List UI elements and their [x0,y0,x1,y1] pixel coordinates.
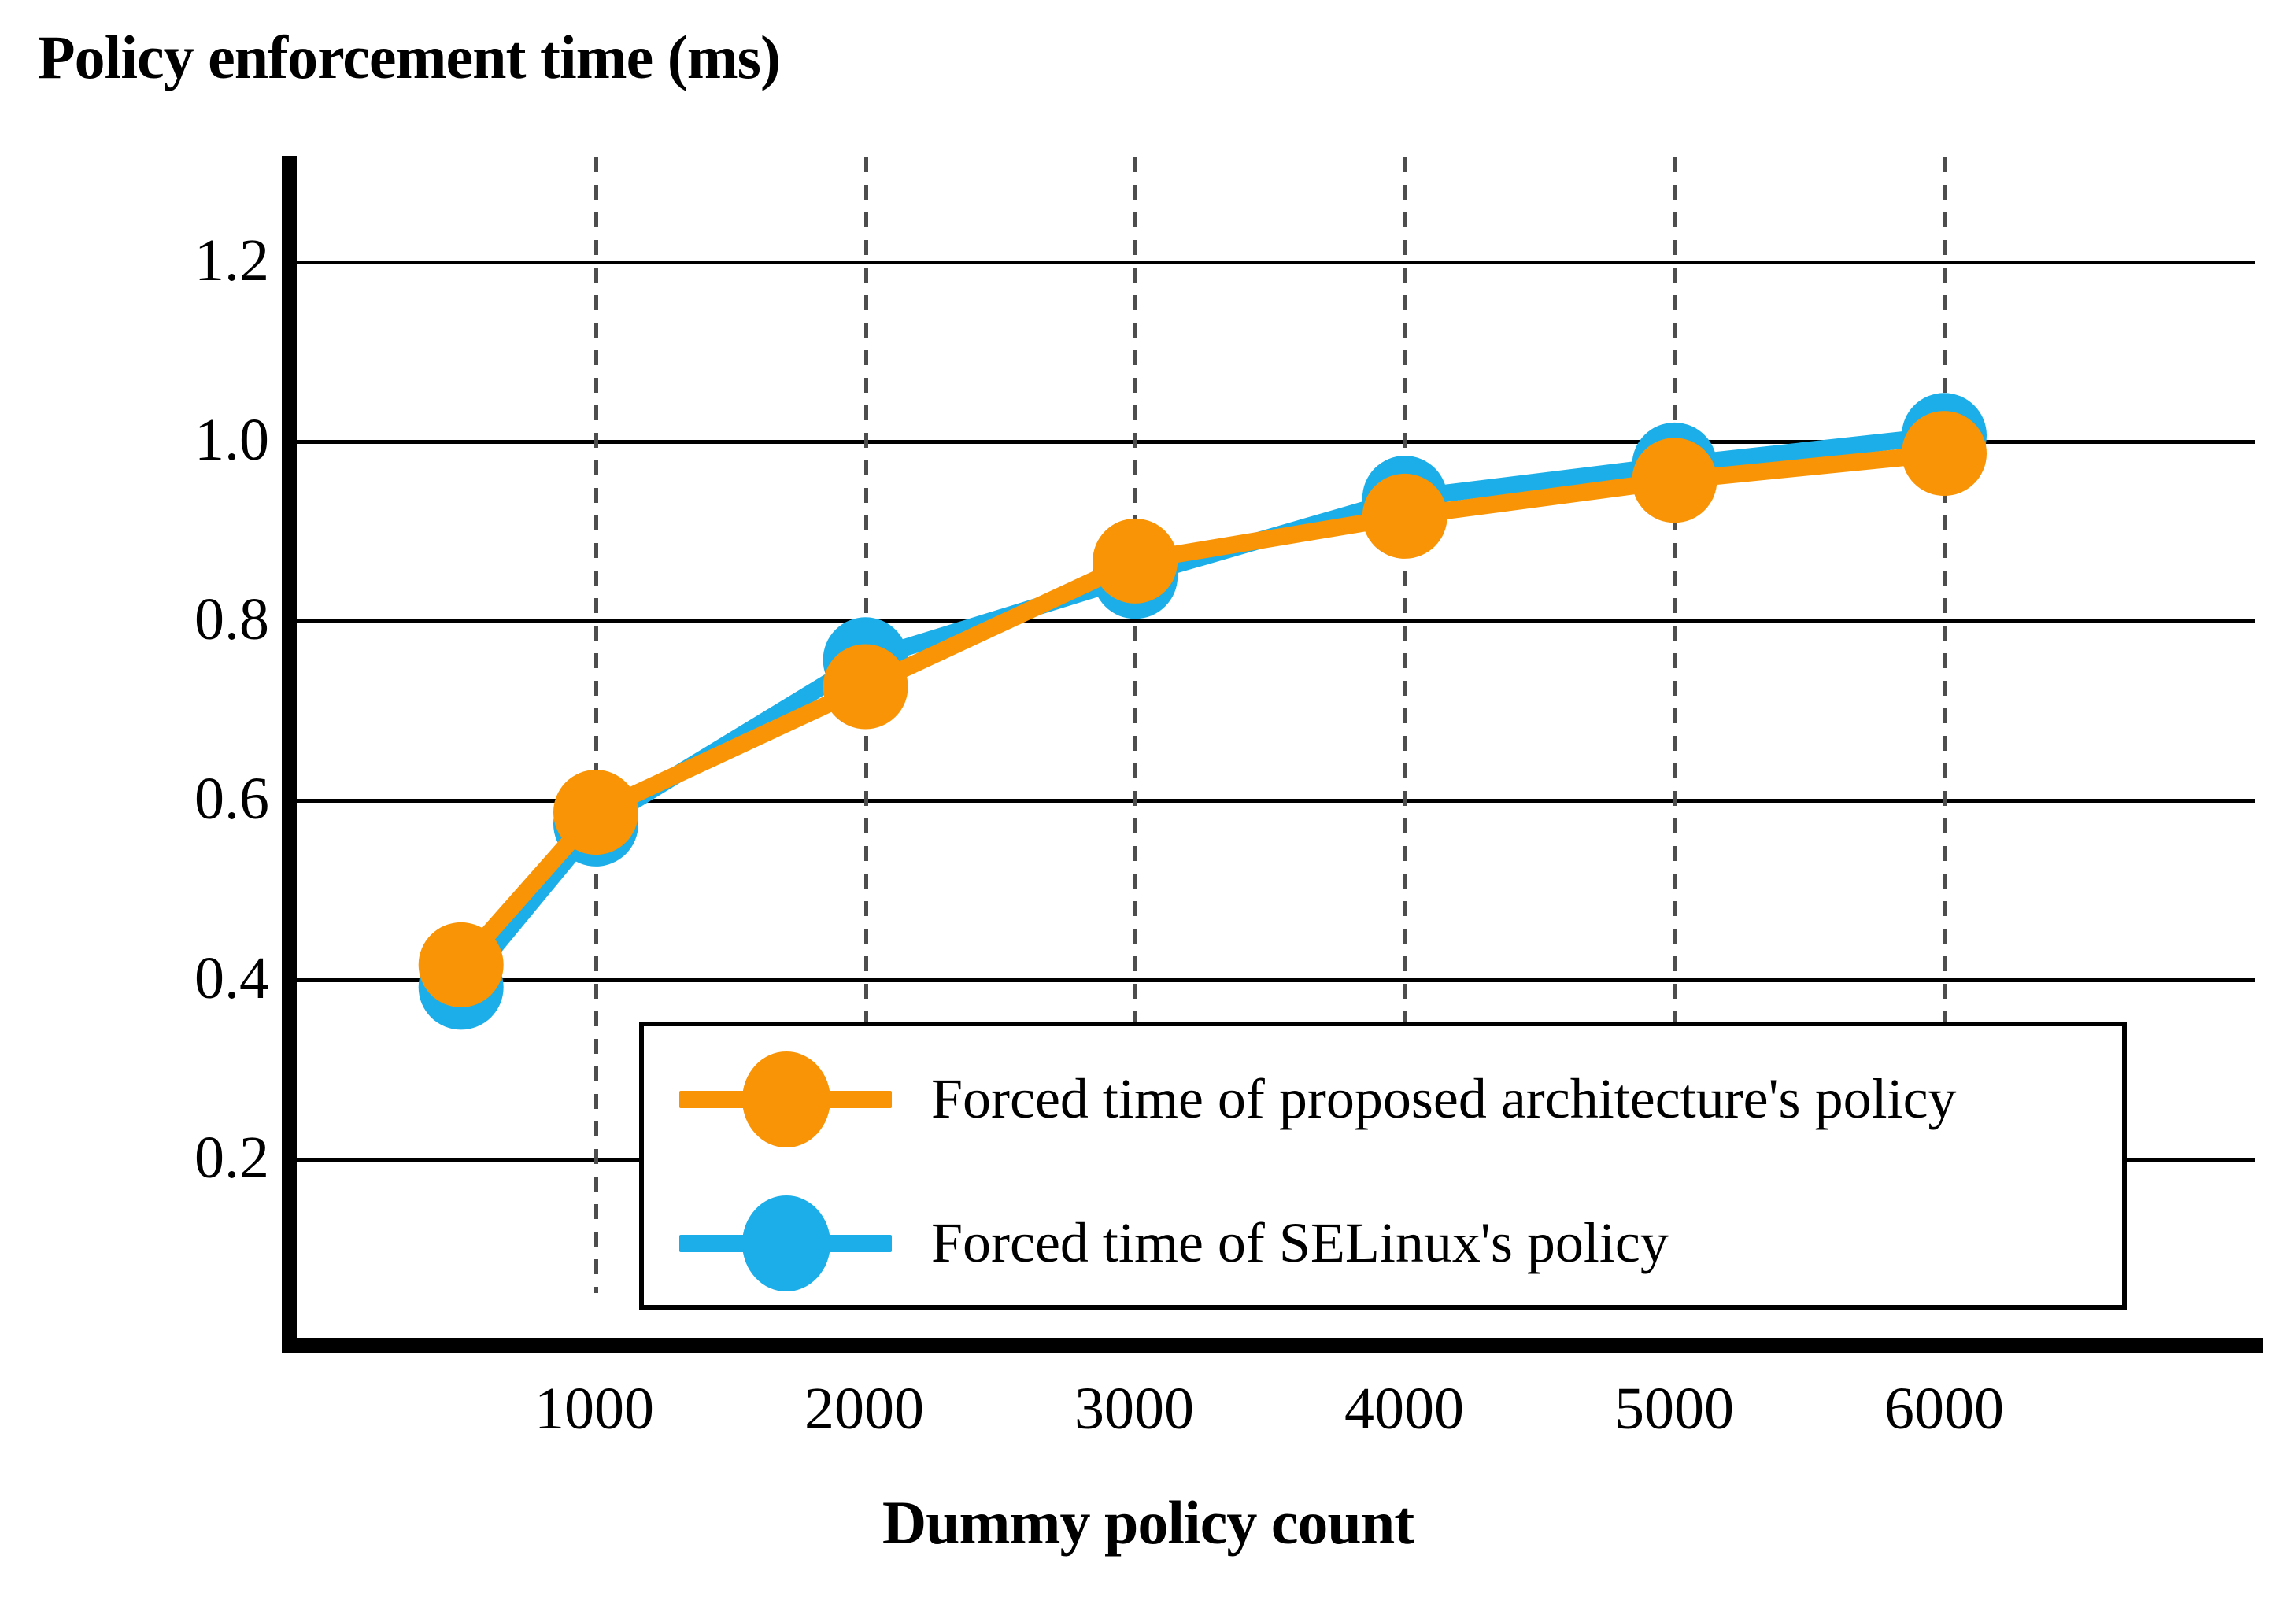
x-axis-tick-label: 2000 [738,1377,990,1440]
gridline-horizontal [295,978,2255,982]
x-axis-tick-label: 6000 [1818,1377,2070,1440]
y-axis-tick-label: 0.4 [65,948,269,1008]
legend-swatch-selinux [679,1195,892,1290]
x-axis-tick-label: 3000 [1008,1377,1260,1440]
gridline-horizontal [295,440,2255,444]
legend-swatch-proposed [679,1051,892,1146]
chart-figure: Policy enforcement time (ms) 1.2 1.0 0.8… [0,0,2296,1600]
x-axis-tick-label: 1000 [468,1377,720,1440]
gridline-horizontal [295,619,2255,623]
y-axis-tick-label: 0.6 [65,769,269,829]
x-axis-title: Dummy policy count [0,1487,2296,1558]
x-axis-spine [282,1338,2263,1353]
y-axis-tick-label: 0.2 [65,1128,269,1188]
x-axis-tick-label: 5000 [1548,1377,1800,1440]
gridline-horizontal [295,261,2255,264]
legend-item-selinux[interactable]: Forced time of SELinux's policy [644,1170,2122,1314]
legend-item-proposed[interactable]: Forced time of proposed architecture's p… [644,1026,2122,1170]
gridline-horizontal [295,799,2255,803]
x-axis-tick-label: 4000 [1278,1377,1530,1440]
legend-label-proposed: Forced time of proposed architecture's p… [931,1069,1957,1129]
y-axis-tick-label: 1.0 [65,410,269,470]
chart-legend: Forced time of proposed architecture's p… [639,1022,2127,1310]
gridline-vertical [594,157,598,1293]
page-title: Policy enforcement time (ms) [38,22,780,93]
y-axis-tick-label: 1.2 [65,231,269,290]
legend-label-selinux: Forced time of SELinux's policy [931,1213,1669,1273]
y-axis-tick-label: 0.8 [65,589,269,649]
